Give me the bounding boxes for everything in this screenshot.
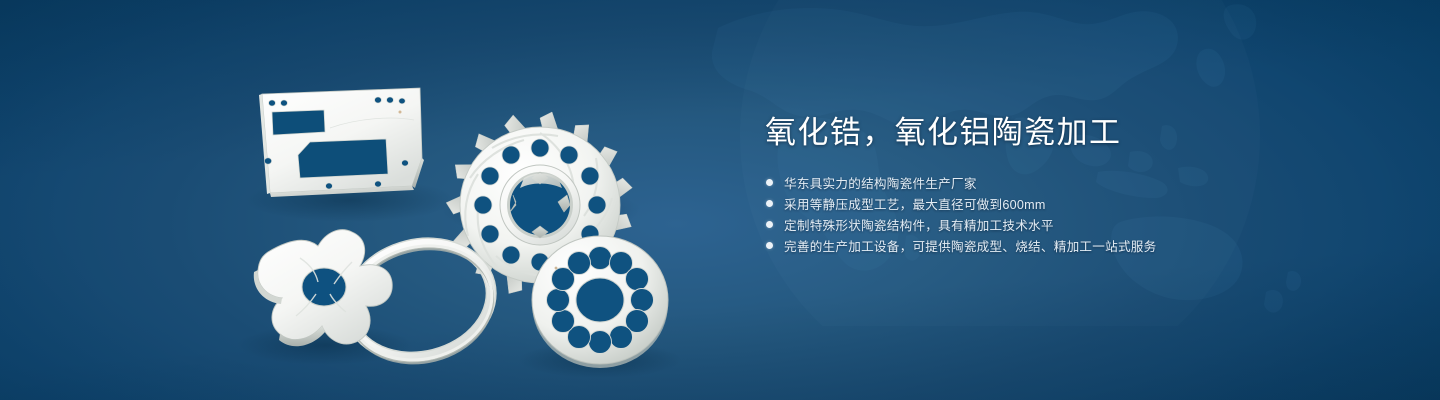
feature-list: 华东具实力的结构陶瓷件生产厂家 采用等静压成型工艺，最大直径可做到600mm 定… <box>766 172 1156 256</box>
ceramic-perforated-disc <box>532 236 668 368</box>
bullet-dot-icon <box>766 179 773 186</box>
feature-text: 完善的生产加工设备，可提供陶瓷成型、烧结、精加工一站式服务 <box>784 236 1156 255</box>
list-item: 华东具实力的结构陶瓷件生产厂家 <box>766 172 1156 193</box>
feature-text: 采用等静压成型工艺，最大直径可做到600mm <box>784 194 1046 213</box>
bullet-dot-icon <box>766 200 773 207</box>
list-item: 采用等静压成型工艺，最大直径可做到600mm <box>766 193 1156 214</box>
product-hero-banner: 氧化锆，氧化铝陶瓷加工 华东具实力的结构陶瓷件生产厂家 采用等静压成型工艺，最大… <box>0 0 1440 400</box>
feature-text: 华东具实力的结构陶瓷件生产厂家 <box>784 173 977 192</box>
list-item: 完善的生产加工设备，可提供陶瓷成型、烧结、精加工一站式服务 <box>766 235 1156 256</box>
bullet-dot-icon <box>766 242 773 249</box>
page-title: 氧化锆，氧化铝陶瓷加工 <box>765 115 1121 152</box>
ceramic-machined-plate <box>259 88 424 197</box>
ceramic-product-group <box>0 0 720 400</box>
banner-copy: 氧化锆，氧化铝陶瓷加工 华东具实力的结构陶瓷件生产厂家 采用等静压成型工艺，最大… <box>765 0 1385 400</box>
bullet-dot-icon <box>766 221 773 228</box>
list-item: 定制特殊形状陶瓷结构件，具有精加工技术水平 <box>766 214 1156 235</box>
feature-text: 定制特殊形状陶瓷结构件，具有精加工技术水平 <box>784 215 1054 234</box>
